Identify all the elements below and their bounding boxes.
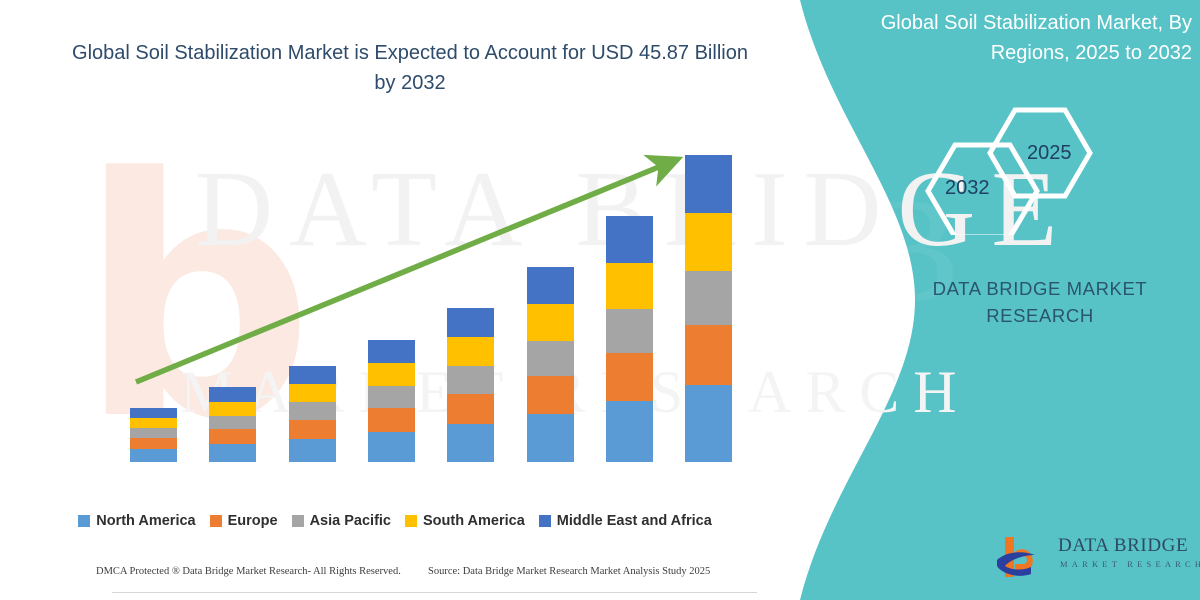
dbmr-logo: DATA BRIDGE MARKET RESEARCH	[995, 533, 1195, 585]
bar-segment-asia-pacific	[685, 271, 732, 326]
bar-segment-europe	[447, 394, 494, 424]
infographic-root: B b DATA BRIDGE MARKET RESEARCH Global S…	[0, 0, 1200, 600]
bar-segment-north-america	[289, 439, 336, 462]
logo-title: DATA BRIDGE	[1058, 535, 1188, 557]
legend-swatch-icon	[78, 515, 90, 527]
bar-segment-middle-east-and-africa	[527, 267, 574, 304]
brand-text: DATA BRIDGE MARKET RESEARCH	[890, 275, 1190, 329]
bar-2026	[209, 387, 256, 462]
legend-swatch-icon	[405, 515, 417, 527]
bar-segment-asia-pacific	[606, 309, 653, 353]
legend-label: Middle East and Africa	[557, 513, 712, 529]
legend-item-south-america[interactable]: South America	[405, 513, 525, 529]
bar-segment-asia-pacific	[289, 402, 336, 419]
bar-segment-north-america	[209, 444, 256, 462]
logo-subtitle: MARKET RESEARCH	[1060, 559, 1200, 569]
bar-segment-south-america	[527, 304, 574, 340]
bar-segment-middle-east-and-africa	[209, 387, 256, 401]
bar-segment-europe	[289, 420, 336, 439]
bar-group	[0, 130, 790, 465]
hexagon-2025-label: 2025	[1027, 142, 1072, 165]
bar-2031	[606, 216, 653, 462]
bar-segment-europe	[527, 376, 574, 414]
legend-label: Asia Pacific	[310, 513, 391, 529]
legend-swatch-icon	[539, 515, 551, 527]
bar-segment-asia-pacific	[447, 366, 494, 394]
bar-2025	[130, 408, 177, 462]
panel-title: Global Soil Stabilization Market, By Reg…	[836, 8, 1192, 68]
footer: DMCA Protected ® Data Bridge Market Rese…	[0, 566, 800, 588]
brand-line-1: DATA BRIDGE MARKET	[890, 275, 1190, 302]
chart-legend: North AmericaEuropeAsia PacificSouth Ame…	[0, 513, 790, 529]
bar-segment-north-america	[368, 432, 415, 462]
bar-segment-asia-pacific	[368, 386, 415, 408]
bar-segment-north-america	[606, 401, 653, 462]
bar-segment-europe	[685, 325, 732, 385]
legend-label: North America	[96, 513, 195, 529]
bar-segment-south-america	[685, 213, 732, 271]
bar-segment-middle-east-and-africa	[685, 155, 732, 213]
bar-segment-north-america	[527, 414, 574, 462]
bar-2028	[368, 340, 415, 462]
footer-source: Source: Data Bridge Market Research Mark…	[428, 566, 710, 577]
bar-segment-south-america	[289, 384, 336, 402]
bar-segment-middle-east-and-africa	[368, 340, 415, 364]
bar-segment-middle-east-and-africa	[130, 408, 177, 418]
legend-item-north-america[interactable]: North America	[78, 513, 195, 529]
legend-item-asia-pacific[interactable]: Asia Pacific	[292, 513, 391, 529]
bar-segment-europe	[368, 408, 415, 432]
bar-segment-south-america	[209, 402, 256, 416]
legend-item-middle-east-and-africa[interactable]: Middle East and Africa	[539, 513, 712, 529]
stacked-bar-chart: 20252026202720282029203020312032	[0, 130, 790, 475]
bar-segment-north-america	[447, 424, 494, 462]
bar-2030	[527, 267, 574, 462]
bar-segment-asia-pacific	[527, 341, 574, 376]
bar-2027	[289, 366, 336, 462]
dbmr-logo-mark	[995, 533, 1055, 581]
legend-swatch-icon	[292, 515, 304, 527]
hexagon-badges: 2025 2032	[915, 105, 1130, 235]
bar-segment-south-america	[368, 363, 415, 386]
bar-segment-south-america	[606, 263, 653, 309]
footer-copyright: DMCA Protected ® Data Bridge Market Rese…	[96, 566, 401, 577]
bar-segment-europe	[130, 438, 177, 449]
bar-segment-asia-pacific	[209, 416, 256, 430]
legend-item-europe[interactable]: Europe	[210, 513, 278, 529]
bar-segment-north-america	[130, 449, 177, 462]
brand-line-2: RESEARCH	[890, 302, 1190, 329]
bar-segment-south-america	[447, 337, 494, 366]
bar-2029	[447, 308, 494, 462]
legend-swatch-icon	[210, 515, 222, 527]
bar-segment-europe	[606, 353, 653, 401]
bar-segment-asia-pacific	[130, 428, 177, 438]
bar-segment-middle-east-and-africa	[606, 216, 653, 263]
bar-segment-europe	[209, 429, 256, 444]
legend-label: South America	[423, 513, 525, 529]
x-axis-line	[112, 592, 757, 593]
bar-segment-middle-east-and-africa	[289, 366, 336, 385]
bar-segment-south-america	[130, 418, 177, 428]
bar-segment-north-america	[685, 385, 732, 462]
hexagon-2032-label: 2032	[945, 177, 990, 200]
legend-label: Europe	[228, 513, 278, 529]
bar-2032	[685, 155, 732, 462]
bar-segment-middle-east-and-africa	[447, 308, 494, 337]
page-title: Global Soil Stabilization Market is Expe…	[60, 38, 760, 98]
